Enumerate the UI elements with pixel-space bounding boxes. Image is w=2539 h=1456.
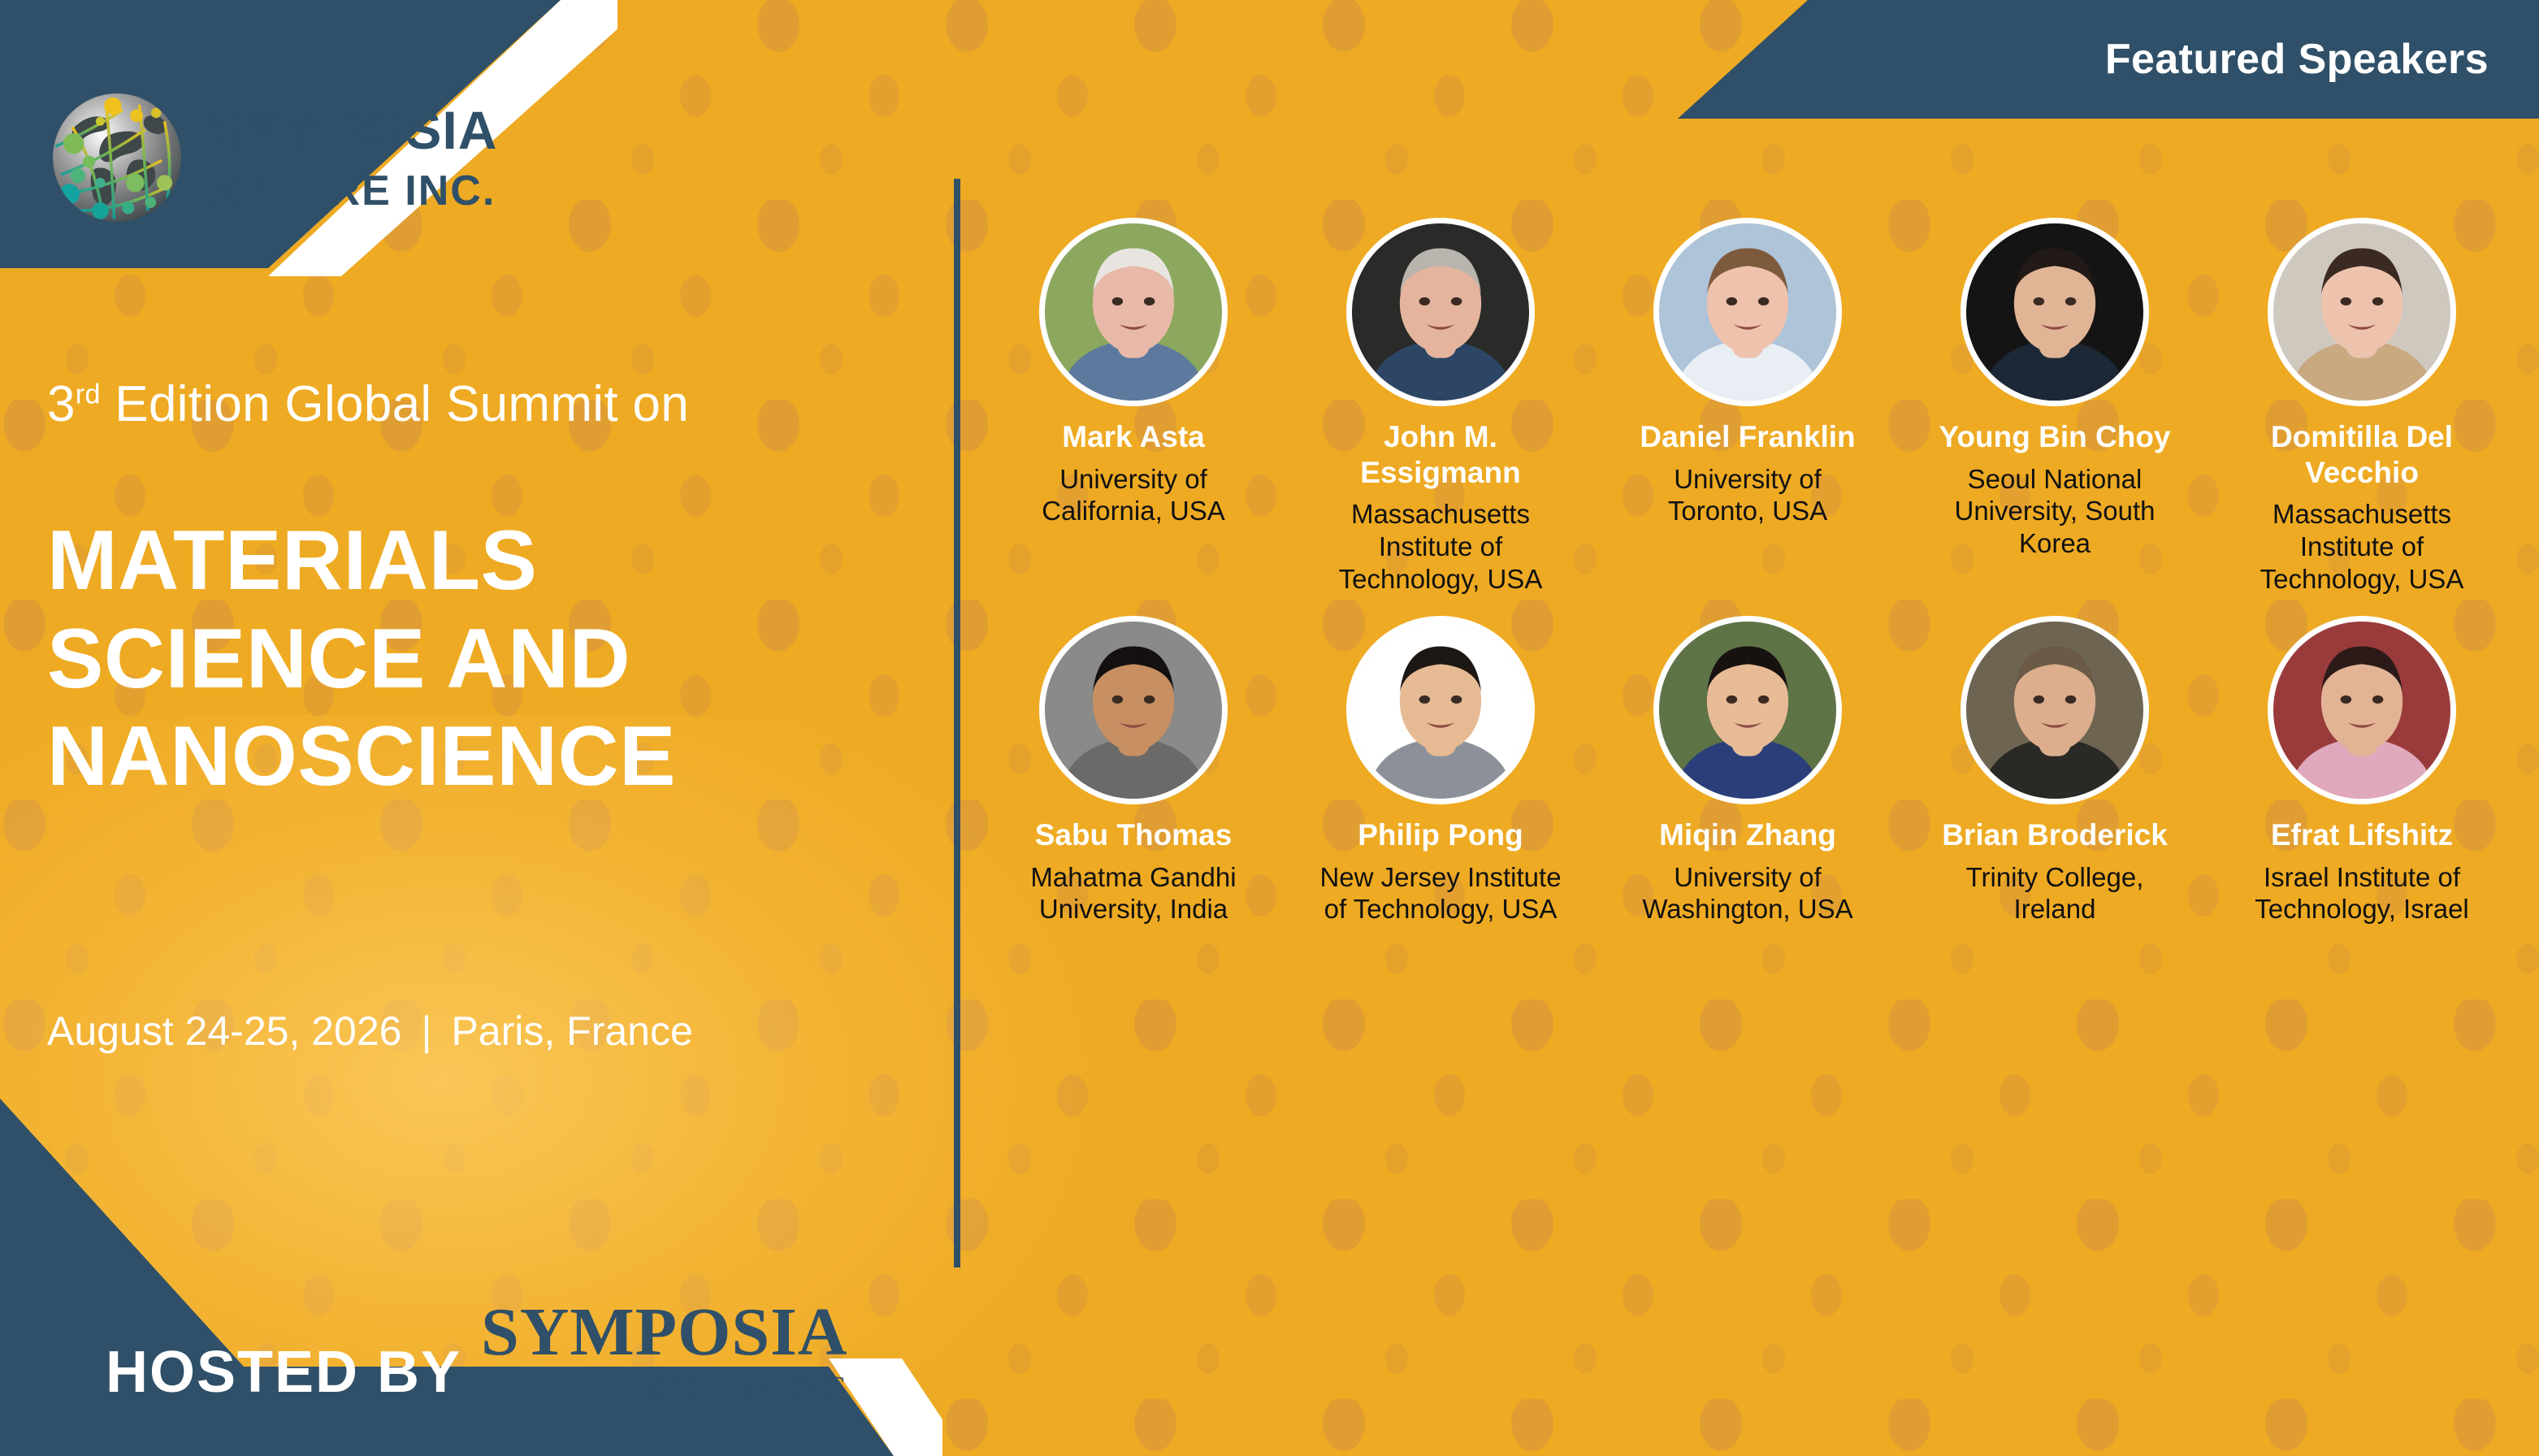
portrait-efrat-lifshitz: [2268, 616, 2456, 804]
speaker-name: Brian Broderick: [1942, 817, 2168, 853]
speaker-card: Domitilla Del VecchioMassachusetts Insti…: [2208, 218, 2515, 595]
portrait-philip-pong: [1346, 616, 1535, 804]
brand-logo: SYMPOSIA SPHERE INC.: [47, 88, 497, 227]
portrait-john-essigmann: [1346, 218, 1535, 406]
speaker-card: John M. EssigmannMassachusetts Institute…: [1287, 218, 1594, 595]
speaker-card: Mark AstaUniversity of California, USA: [980, 218, 1287, 595]
portrait-miqin-zhang: [1653, 616, 1842, 804]
speaker-affiliation: Israel Institute of Technology, Israel: [2240, 861, 2484, 925]
speaker-affiliation: Trinity College, Ireland: [1933, 861, 2177, 925]
speaker-card: Efrat LifshitzIsrael Institute of Techno…: [2208, 616, 2515, 925]
portrait-domitilla-del-vecchio: [2268, 218, 2456, 406]
speaker-card: Miqin ZhangUniversity of Washington, USA: [1594, 616, 1901, 925]
hosted-brand-name: SYMPOSIA: [481, 1300, 847, 1365]
speaker-affiliation: University of Washington, USA: [1626, 861, 1870, 925]
event-date-location: August 24-25, 2026 | Paris, France: [47, 1007, 693, 1055]
event-date: August 24-25, 2026: [47, 1007, 401, 1055]
logo-title: SYMPOSIA: [208, 103, 497, 157]
speaker-card: Young Bin ChoySeoul National University,…: [1901, 218, 2208, 595]
speaker-card: Philip PongNew Jersey Institute of Techn…: [1287, 616, 1594, 925]
speaker-name: Miqin Zhang: [1659, 817, 1836, 853]
logo-subtitle: SPHERE INC.: [208, 170, 497, 212]
speaker-card: Sabu ThomasMahatma Gandhi University, In…: [980, 616, 1287, 925]
event-eyebrow: 3rd Edition Global Summit on: [47, 375, 689, 433]
speaker-affiliation: University of Toronto, USA: [1626, 463, 1870, 527]
portrait-brian-broderick: [1961, 616, 2149, 804]
portrait-sabu-thomas: [1039, 616, 1228, 804]
eyebrow-rest: Edition Global Summit on: [101, 376, 689, 432]
hosted-by-label: HOSTED BY: [106, 1339, 461, 1406]
portrait-daniel-franklin: [1653, 218, 1842, 406]
speaker-name: Philip Pong: [1358, 817, 1523, 853]
speaker-affiliation: New Jersey Institute of Technology, USA: [1319, 861, 1562, 925]
speaker-card: Brian BroderickTrinity College, Ireland: [1901, 616, 2208, 925]
speaker-affiliation: Mahatma Gandhi University, India: [1012, 861, 1255, 925]
speaker-affiliation: Massachusetts Institute of Technology, U…: [1319, 498, 1562, 595]
speakers-grid: Mark AstaUniversity of California, USAJo…: [980, 218, 2515, 925]
eyebrow-number: 3: [47, 376, 76, 432]
speaker-name: John M. Essigmann: [1319, 419, 1562, 490]
hosted-brand-sub: SPHERE.INC: [648, 1370, 847, 1406]
speaker-name: Daniel Franklin: [1640, 419, 1855, 455]
speaker-name: Young Bin Choy: [1939, 419, 2171, 455]
eyebrow-ordinal: rd: [76, 379, 101, 409]
globe-network-icon: [47, 88, 187, 227]
speaker-affiliation: University of California, USA: [1012, 463, 1255, 527]
speaker-name: Sabu Thomas: [1035, 817, 1233, 853]
speaker-card: Daniel FranklinUniversity of Toronto, US…: [1594, 218, 1901, 595]
speaker-name: Efrat Lifshitz: [2271, 817, 2453, 853]
page-title: MATERIALS SCIENCE AND NANOSCIENCE: [47, 512, 925, 806]
speaker-affiliation: Massachusetts Institute of Technology, U…: [2240, 498, 2484, 595]
featured-speakers-label: Featured Speakers: [2105, 0, 2489, 119]
portrait-young-bin-choy: [1961, 218, 2149, 406]
portrait-mark-asta: [1039, 218, 1228, 406]
event-location: Paris, France: [451, 1007, 692, 1055]
hosted-by-block: HOSTED BY SYMPOSIA SPHERE.INC: [106, 1300, 847, 1406]
speaker-name: Domitilla Del Vecchio: [2240, 419, 2484, 490]
speaker-name: Mark Asta: [1062, 419, 1204, 455]
conference-poster: Featured Speakers: [0, 0, 2539, 1456]
speaker-affiliation: Seoul National University, South Korea: [1933, 463, 2177, 560]
date-location-separator: |: [421, 1007, 431, 1055]
vertical-divider: [954, 179, 960, 1267]
